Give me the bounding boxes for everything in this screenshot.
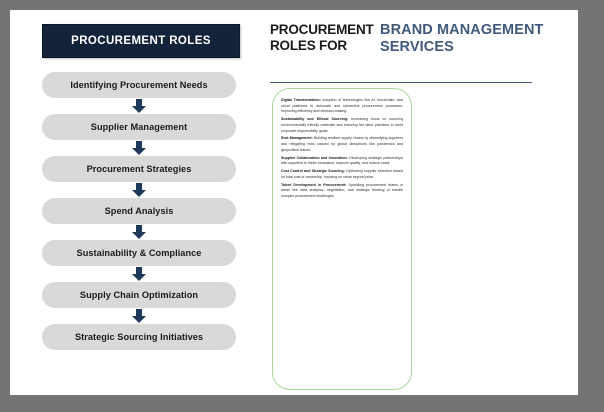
card-section-risk-management: Risk Management: Building resilient supp… <box>281 136 403 153</box>
flow-connector-arrow <box>42 140 236 156</box>
section-heading: Cost Control and Strategic Sourcing: <box>281 169 345 173</box>
flowchart-header: PROCUREMENT ROLES <box>42 24 240 58</box>
flow-connector-arrow <box>42 182 236 198</box>
card-section-talent-development-procurement: Talent Development in Procurement: Upski… <box>281 183 403 200</box>
procurement-roles-flowchart: PROCUREMENT ROLES Identifying Procuremen… <box>42 24 250 350</box>
slide-canvas: PROCUREMENT ROLES Identifying Procuremen… <box>10 10 578 395</box>
flow-connector-arrow <box>42 308 236 324</box>
flow-step-spend-analysis[interactable]: Spend Analysis <box>42 198 236 224</box>
flow-step-procurement-strategies[interactable]: Procurement Strategies <box>42 156 236 182</box>
flow-step-supply-chain-optimization[interactable]: Supply Chain Optimization <box>42 282 236 308</box>
flow-step-identifying-procurement-needs[interactable]: Identifying Procurement Needs <box>42 72 236 98</box>
flow-step-label: Supply Chain Optimization <box>80 290 198 300</box>
section-heading: Talent Development in Procurement: <box>281 183 347 187</box>
title-highlight: BRAND MANAGEMENT SERVICES <box>380 22 570 56</box>
flow-step-label: Strategic Sourcing Initiatives <box>75 332 203 342</box>
flow-connector-arrow <box>42 98 236 114</box>
card-section-cost-control-strategic-sourcing: Cost Control and Strategic Sourcing: Opt… <box>281 169 403 180</box>
arrow-down-icon <box>132 225 146 239</box>
arrow-down-icon <box>132 309 146 323</box>
arrow-down-icon <box>132 99 146 113</box>
arrow-down-icon <box>132 183 146 197</box>
arrow-down-icon <box>132 141 146 155</box>
flow-step-label: Identifying Procurement Needs <box>70 80 207 90</box>
section-heading: Digital Transformation: <box>281 98 321 102</box>
flow-step-supplier-management[interactable]: Supplier Management <box>42 114 236 140</box>
section-heading: Sustainability and Ethical Sourcing: <box>281 117 348 121</box>
section-heading: Risk Management: <box>281 136 313 140</box>
arrow-down-icon <box>132 267 146 281</box>
flow-step-sustainability-compliance[interactable]: Sustainability & Compliance <box>42 240 236 266</box>
flow-step-label: Procurement Strategies <box>87 164 192 174</box>
flow-step-label: Sustainability & Compliance <box>77 248 202 258</box>
card-section-sustainability-ethical-sourcing: Sustainability and Ethical Sourcing: Inc… <box>281 117 403 134</box>
flow-connector-arrow <box>42 224 236 240</box>
slide-title: PROCUREMENT ROLES FOR BRAND MANAGEMENT S… <box>270 22 570 56</box>
flow-step-label: Spend Analysis <box>105 206 174 216</box>
flow-connector-arrow <box>42 266 236 282</box>
flow-step-strategic-sourcing-initiatives[interactable]: Strategic Sourcing Initiatives <box>42 324 236 350</box>
title-prefix: PROCUREMENT ROLES FOR <box>270 22 380 54</box>
card-section-digital-transformation: Digital Transformation: Adoption of tech… <box>281 98 403 115</box>
card-section-supplier-collaboration-innovation: Supplier Collaboration and Innovation: D… <box>281 156 403 167</box>
card-body: Digital Transformation: Adoption of tech… <box>273 89 411 208</box>
procurement-trends-card: Digital Transformation: Adoption of tech… <box>272 88 412 390</box>
slide-screenshot: PROCUREMENT ROLES Identifying Procuremen… <box>0 0 604 412</box>
title-row: PROCUREMENT ROLES FOR BRAND MANAGEMENT S… <box>270 22 570 56</box>
flow-step-label: Supplier Management <box>91 122 187 132</box>
section-heading: Supplier Collaboration and Innovation: <box>281 156 348 160</box>
title-divider <box>270 82 532 83</box>
flowchart-header-label: PROCUREMENT ROLES <box>71 35 211 47</box>
